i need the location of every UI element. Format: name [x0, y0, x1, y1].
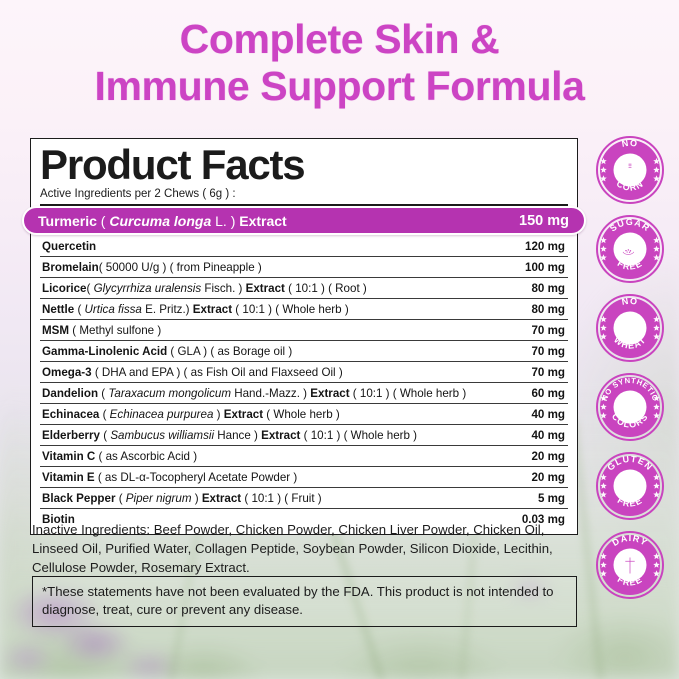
- ingredient-amount: 80 mg: [521, 282, 565, 295]
- ingredient-name: Omega-3 ( DHA and EPA ) ( as Fish Oil an…: [42, 366, 343, 379]
- page-title: Complete Skin & Immune Support Formula: [0, 16, 679, 110]
- highlight-ingredient-name: Turmeric ( Curcuma longa L. ) Extract: [38, 213, 287, 229]
- ingredient-row: Black Pepper ( Piper nigrum ) Extract ( …: [40, 488, 568, 509]
- ingredient-amount: 20 mg: [521, 471, 565, 484]
- ingredient-row: Echinacea ( Echinacea purpurea ) Extract…: [40, 404, 568, 425]
- ingredient-name: Elderberry ( Sambucus williamsii Hance )…: [42, 429, 417, 442]
- ingredient-name: Nettle ( Urtica fissa E. Pritz.) Extract…: [42, 303, 349, 316]
- ingredient-amount: 80 mg: [521, 303, 565, 316]
- product-facts-panel: Product Facts Active Ingredients per 2 C…: [30, 138, 578, 535]
- ingredient-amount: 120 mg: [515, 240, 565, 253]
- ingredient-amount: 70 mg: [521, 366, 565, 379]
- ingredient-name: Vitamin C ( as Ascorbic Acid ): [42, 450, 197, 463]
- ingredient-name: Gamma-Linolenic Acid ( GLA ) ( as Borage…: [42, 345, 292, 358]
- ingredient-name: Bromelain( 50000 U/g ) ( from Pineapple …: [42, 261, 262, 274]
- ingredient-amount: 100 mg: [515, 261, 565, 274]
- inactive-ingredients-text: Inactive Ingredients: Beef Powder, Chick…: [32, 520, 577, 577]
- ingredient-amount: 20 mg: [521, 450, 565, 463]
- ingredient-amount: 60 mg: [521, 387, 565, 400]
- ingredient-amount: 70 mg: [521, 324, 565, 337]
- serving-size-line: Active Ingredients per 2 Chews ( 6g ) :: [40, 187, 568, 206]
- ingredient-name: Licorice( Glycyrrhiza uralensis Fisch. )…: [42, 282, 367, 295]
- badge-no-corn: NOCORN: [596, 136, 664, 204]
- ingredient-name: Vitamin E ( as DL-α-Tocopheryl Acetate P…: [42, 471, 297, 484]
- ingredient-row: Dandelion ( Taraxacum mongolicum Hand.-M…: [40, 383, 568, 404]
- ingredient-row: Omega-3 ( DHA and EPA ) ( as Fish Oil an…: [40, 362, 568, 383]
- badge-no-wheat: NOWHEAT: [596, 294, 664, 362]
- ingredient-row: Licorice( Glycyrrhiza uralensis Fisch. )…: [40, 278, 568, 299]
- ingredient-amount: 5 mg: [528, 492, 565, 505]
- ingredient-row: MSM ( Methyl sulfone )70 mg: [40, 320, 568, 341]
- product-facts-heading: Product Facts: [40, 143, 568, 187]
- certification-badge-column: NOCORNSUGARFREENOWHEATNO SYNTHETICCOLORS…: [591, 136, 669, 599]
- ingredient-name: MSM ( Methyl sulfone ): [42, 324, 161, 337]
- highlight-ingredient-amount: 150 mg: [519, 213, 569, 229]
- ingredient-row: Bromelain( 50000 U/g ) ( from Pineapple …: [40, 257, 568, 278]
- ingredient-row: Elderberry ( Sambucus williamsii Hance )…: [40, 425, 568, 446]
- ingredient-amount: 70 mg: [521, 345, 565, 358]
- badge-dairy-free: DAIRYFREE: [596, 531, 664, 599]
- badge-sugar-free: SUGARFREE: [596, 215, 664, 283]
- ingredient-amount: 40 mg: [521, 429, 565, 442]
- ingredient-row: Gamma-Linolenic Acid ( GLA ) ( as Borage…: [40, 341, 568, 362]
- ingredient-row: Vitamin E ( as DL-α-Tocopheryl Acetate P…: [40, 467, 568, 488]
- title-line-2: Immune Support Formula: [0, 63, 679, 110]
- ingredient-name: Quercetin: [42, 240, 96, 253]
- title-line-1: Complete Skin &: [0, 16, 679, 63]
- ingredient-name: Echinacea ( Echinacea purpurea ) Extract…: [42, 408, 340, 421]
- badge-no-synthetic-colors: NO SYNTHETICCOLORS: [596, 373, 664, 441]
- fda-disclaimer-box: *These statements have not been evaluate…: [32, 576, 577, 627]
- ingredient-row: Vitamin C ( as Ascorbic Acid )20 mg: [40, 446, 568, 467]
- ingredient-name: Black Pepper ( Piper nigrum ) Extract ( …: [42, 492, 322, 505]
- ingredient-row: Nettle ( Urtica fissa E. Pritz.) Extract…: [40, 299, 568, 320]
- ingredient-row: Quercetin120 mg: [40, 236, 568, 257]
- ingredient-table: Quercetin120 mgBromelain( 50000 U/g ) ( …: [40, 236, 568, 529]
- ingredient-amount: 40 mg: [521, 408, 565, 421]
- badge-gluten-free: GLUTENFREE: [596, 452, 664, 520]
- highlight-ingredient-row: Turmeric ( Curcuma longa L. ) Extract 15…: [22, 206, 586, 235]
- ingredient-name: Dandelion ( Taraxacum mongolicum Hand.-M…: [42, 387, 466, 400]
